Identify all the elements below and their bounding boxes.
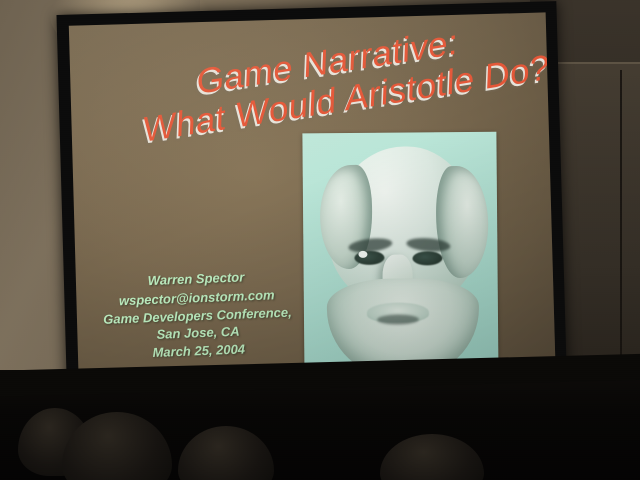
presentation-photo-scene: Game Narrative: What Would Aristotle Do?	[0, 0, 640, 480]
bust-hair-right	[436, 166, 489, 278]
audience-head	[380, 434, 484, 480]
room-right-panel	[554, 62, 640, 404]
aristotle-bust-photo: Aristotle	[302, 132, 498, 392]
presentation-slide: Game Narrative: What Would Aristotle Do?	[69, 12, 556, 404]
slide-byline: Warren Spector wspector@ionstorm.com Gam…	[93, 266, 301, 365]
bust-eye-highlight	[358, 251, 367, 258]
room-right-seam	[620, 70, 622, 400]
projection-screen-frame: Game Narrative: What Would Aristotle Do?	[56, 1, 567, 417]
audience-head	[178, 426, 274, 480]
audience-silhouettes	[0, 370, 640, 480]
bust-illustration	[314, 146, 492, 380]
